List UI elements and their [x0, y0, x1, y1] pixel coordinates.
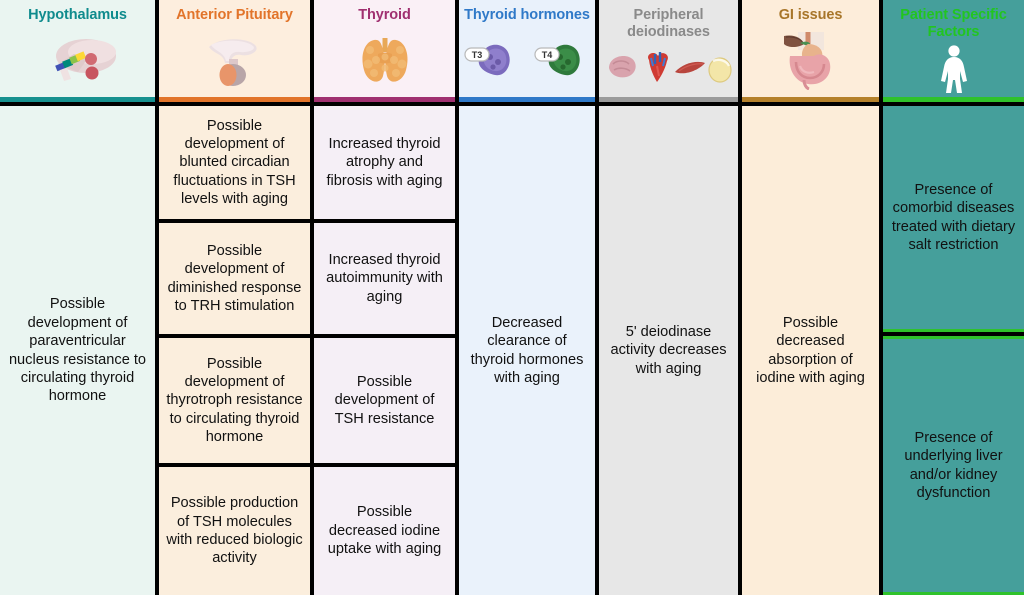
- thyroid-gland-illustration: [314, 24, 455, 102]
- header-accent-peripheral-deiodinases: [599, 97, 738, 102]
- header-accent-thyroid: [314, 97, 455, 102]
- header-anterior-pituitary: Anterior Pituitary: [159, 0, 310, 102]
- header-accent-anterior-pituitary: [159, 97, 310, 102]
- cell-patient-specific-factors-1: Presence of comorbid diseases treated wi…: [883, 106, 1024, 332]
- cell-text: Possible decreased iodine uptake with ag…: [321, 503, 448, 558]
- cell-text: Decreased clearance of thyroid hormones …: [466, 314, 588, 388]
- cell-text: Increased thyroid autoimmunity with agin…: [321, 251, 448, 306]
- t3-t4-hormone-molecules: T3 T4: [459, 24, 595, 102]
- header-title-hypothalamus: Hypothalamus: [24, 7, 131, 24]
- column-hypothalamus: Hypothalamus Possible developm: [0, 0, 155, 595]
- column-gi-issues: GI issues Possible decreased a: [742, 0, 879, 595]
- column-anterior-pituitary: Anterior Pituitary Possible development …: [159, 0, 310, 595]
- cell-text: Possible production of TSH molecules wit…: [166, 494, 303, 568]
- cell-text: Presence of underlying liver and/or kidn…: [890, 429, 1017, 503]
- cell-text: Increased thyroid atrophy and fibrosis w…: [321, 135, 448, 190]
- header-accent-patient-specific-factors: [883, 97, 1024, 102]
- header-title-thyroid-hormones: Thyroid hormones: [460, 7, 594, 24]
- gastrointestinal-tract-illustration: [742, 24, 879, 102]
- brain-heart-muscle-liver-illustration: [599, 41, 738, 102]
- header-title-peripheral-deiodinases: Peripheral deiodinases: [599, 7, 738, 41]
- column-peripheral-deiodinases: Peripheral deiodinases: [599, 0, 738, 595]
- cell-gi-issues-1: Possible decreased absorption of iodine …: [742, 106, 879, 595]
- cell-thyroid-4: Possible decreased iodine uptake with ag…: [314, 467, 455, 595]
- human-body-silhouette: [883, 41, 1024, 102]
- cell-hypothalamus-1: Possible development of paraventricular …: [0, 106, 155, 595]
- cell-thyroid-1: Increased thyroid atrophy and fibrosis w…: [314, 106, 455, 219]
- cell-text: Presence of comorbid diseases treated wi…: [890, 181, 1017, 255]
- column-thyroid: Thyroid I: [314, 0, 455, 595]
- cell-text: 5' deiodinase activity decreases with ag…: [606, 323, 731, 378]
- cell-anterior-pituitary-1: Possible development of blunted circadia…: [159, 106, 310, 219]
- header-hypothalamus: Hypothalamus: [0, 0, 155, 102]
- thyroid-aging-factors-table: Hypothalamus Possible developm: [0, 0, 1024, 595]
- header-patient-specific-factors: Patient Specific Factors: [883, 0, 1024, 102]
- header-gi-issues: GI issues: [742, 0, 879, 102]
- cell-anterior-pituitary-2: Possible development of diminished respo…: [159, 223, 310, 334]
- cell-thyroid-hormones-1: Decreased clearance of thyroid hormones …: [459, 106, 595, 595]
- column-patient-specific-factors: Patient Specific Factors Presence of com…: [883, 0, 1024, 595]
- header-peripheral-deiodinases: Peripheral deiodinases: [599, 0, 738, 102]
- svg-text:T3: T3: [472, 50, 483, 60]
- cell-text: Possible development of blunted circadia…: [166, 117, 303, 209]
- header-accent-thyroid-hormones: [459, 97, 595, 102]
- header-title-anterior-pituitary: Anterior Pituitary: [172, 7, 297, 24]
- header-title-thyroid: Thyroid: [354, 7, 414, 24]
- cell-anterior-pituitary-4: Possible production of TSH molecules wit…: [159, 467, 310, 595]
- header-thyroid: Thyroid: [314, 0, 455, 102]
- cell-patient-specific-factors-2: Presence of underlying liver and/or kidn…: [883, 336, 1024, 595]
- cell-text: Possible development of TSH resistance: [321, 373, 448, 428]
- hypothalamus-brain-illustration: [0, 24, 155, 102]
- cell-text: Possible development of diminished respo…: [166, 242, 303, 316]
- cell-text: Possible development of paraventricular …: [7, 295, 148, 405]
- svg-text:T4: T4: [542, 50, 553, 60]
- cell-text: Possible development of thyrotroph resis…: [166, 355, 303, 447]
- column-thyroid-hormones: Thyroid hormones T3 T4: [459, 0, 595, 595]
- cell-anterior-pituitary-3: Possible development of thyrotroph resis…: [159, 338, 310, 463]
- header-accent-gi-issues: [742, 97, 879, 102]
- cell-thyroid-3: Possible development of TSH resistance: [314, 338, 455, 463]
- header-accent-hypothalamus: [0, 97, 155, 102]
- pituitary-gland-illustration: [159, 24, 310, 102]
- cell-text: Possible decreased absorption of iodine …: [749, 314, 872, 388]
- header-title-patient-specific-factors: Patient Specific Factors: [883, 7, 1024, 41]
- header-thyroid-hormones: Thyroid hormones T3 T4: [459, 0, 595, 102]
- cell-thyroid-2: Increased thyroid autoimmunity with agin…: [314, 223, 455, 334]
- header-title-gi-issues: GI issues: [775, 7, 847, 24]
- cell-peripheral-deiodinases-1: 5' deiodinase activity decreases with ag…: [599, 106, 738, 595]
